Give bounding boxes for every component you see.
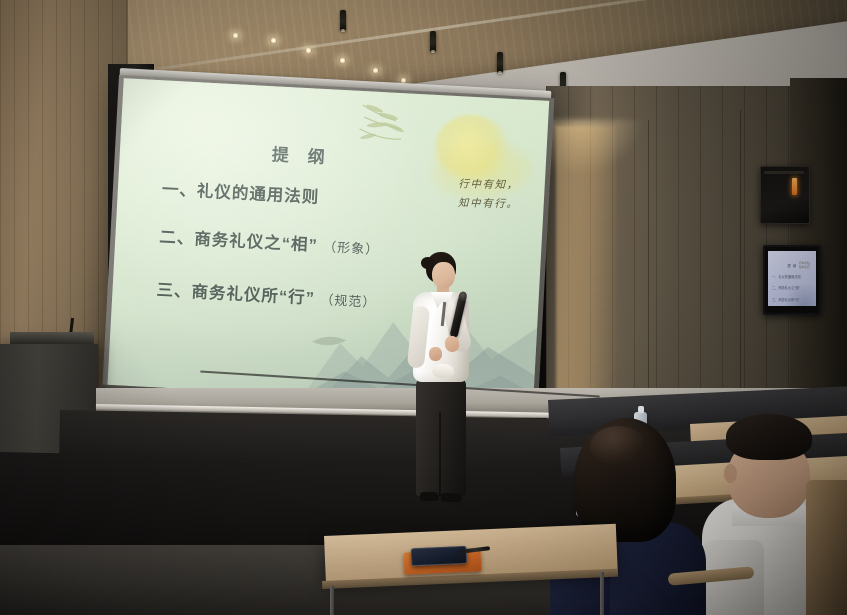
chair-backrest xyxy=(806,480,847,615)
audience-woman-hair xyxy=(574,418,676,542)
confidence-monitor-screen: 提 纲 行中有知， 知中有行。 一、礼仪的通用法则 二、商务礼仪之“相” 三、商… xyxy=(768,251,816,306)
slide-item-1: 一、礼仪的通用法则 xyxy=(161,175,320,207)
presenter-hair-bun xyxy=(421,257,434,269)
bamboo-artwork xyxy=(358,99,431,165)
monitor-slide-line-2: 二、商务礼仪之“相” xyxy=(772,285,800,290)
slide-calligraphy-line2: 知中有行。 xyxy=(457,198,518,211)
lecture-hall-scene: 提 纲 行中有知， 知中有行。 一、礼仪的通用法则 二、商务礼仪之“相” 三、商… xyxy=(0,0,847,615)
slide-item-2: 二、商务礼仪之“相” （形象） xyxy=(159,223,380,259)
smartphone xyxy=(411,546,468,567)
slide-item-2-note: （形象） xyxy=(323,239,380,257)
projection-screen: 提 纲 一、礼仪的通用法则 二、商务礼仪之“相” （形象） 三、商务礼仪所“行”… xyxy=(102,75,554,418)
presenter-shoe-right xyxy=(441,493,462,502)
desk-leg xyxy=(600,572,604,615)
track-spotlight-icon xyxy=(497,52,503,73)
downlight-icon xyxy=(270,38,277,43)
confidence-monitor[interactable]: 提 纲 行中有知， 知中有行。 一、礼仪的通用法则 二、商务礼仪之“相” 三、商… xyxy=(763,245,821,315)
slide-item-3-text: 三、商务礼仪所“行” xyxy=(156,281,315,307)
downlight-icon xyxy=(232,33,239,38)
slide-title: 提 纲 xyxy=(271,140,332,168)
slide-item-1-text: 一、礼仪的通用法则 xyxy=(161,180,319,206)
slide-item-3-note: （规范） xyxy=(320,292,377,310)
wall-loudspeaker xyxy=(760,166,810,224)
monitor-calligraphy-line1: 行中有知， xyxy=(799,262,812,265)
presenter-shoe-left xyxy=(420,492,439,501)
downlight-icon xyxy=(339,58,346,63)
audience-member-woman xyxy=(560,418,690,615)
presenter-blouse-knot xyxy=(432,364,454,378)
desk-leg xyxy=(330,586,334,615)
projected-slide: 提 纲 一、礼仪的通用法则 二、商务礼仪之“相” （形象） 三、商务礼仪所“行”… xyxy=(107,78,549,407)
downlight-icon xyxy=(305,48,312,53)
slide-calligraphy: 行中有知， 知中有行。 xyxy=(457,175,518,215)
presenter-face xyxy=(432,262,455,289)
track-spotlight-icon xyxy=(340,10,346,31)
monitor-calligraphy-line2: 知中有行。 xyxy=(799,266,812,269)
slide-calligraphy-line1: 行中有知， xyxy=(458,178,519,191)
presenter-hand-left xyxy=(429,347,442,361)
speaker-status-led-icon xyxy=(792,178,797,195)
slide-item-2-text: 二、商务礼仪之“相” xyxy=(159,228,318,254)
track-spotlight-icon xyxy=(430,31,436,52)
audience-man-hair xyxy=(726,414,812,460)
presenter-trousers xyxy=(416,378,466,496)
audience-man-ear xyxy=(724,464,737,483)
presenter xyxy=(404,252,480,520)
speaker-mount-bar xyxy=(764,171,804,174)
monitor-slide-line-1: 一、礼仪的通用法则 xyxy=(772,274,801,279)
downlight-icon xyxy=(372,68,379,73)
monitor-calligraphy: 行中有知， 知中有行。 xyxy=(799,262,812,270)
monitor-slide-line-3: 三、商务礼仪所“行” xyxy=(772,297,800,302)
